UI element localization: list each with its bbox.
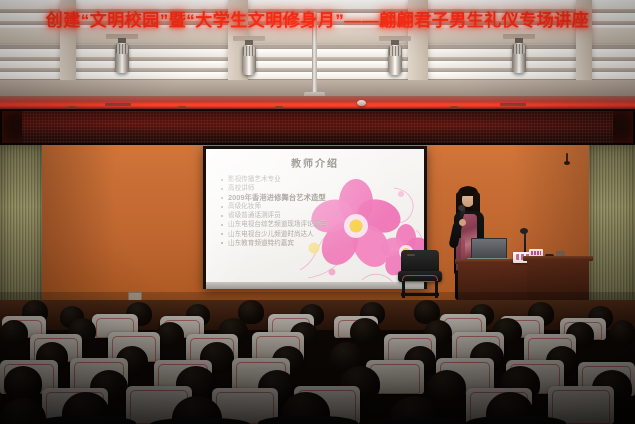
audience-head — [610, 320, 635, 346]
audience-head — [156, 322, 184, 348]
microphone-head-icon — [458, 205, 465, 211]
slide-bullet: 山东电视台少儿频道时尚达人 — [220, 230, 405, 239]
lecture-hall-photo: 创建“文明校园”暨“大学生文明修身月”——翩翩君子男生礼仪专场讲座 — [0, 0, 635, 424]
audience-shoulders — [150, 418, 250, 424]
audience-head — [4, 366, 42, 401]
ceiling-spotlight — [512, 34, 526, 74]
audience-head — [0, 320, 28, 346]
ceiling-spotlight — [115, 34, 129, 74]
slide-bullet: 2009年香港进修舞台艺术造型 — [220, 193, 405, 202]
projection-screen: 教师介绍 影视传播艺术专业 高校讲师 2009年香港进修舞台艺术造型 高级化妆师… — [206, 149, 424, 282]
ceiling-vent — [500, 103, 526, 106]
desk-microphone-head — [520, 228, 528, 234]
slide-bullet: 高校讲师 — [220, 184, 405, 193]
projection-screen-bottom-bar — [206, 282, 424, 289]
slide-bullet: 高级化妆师 — [220, 202, 405, 211]
smoke-detector — [357, 100, 366, 106]
ceiling-vent — [105, 103, 131, 106]
seated-audience — [0, 292, 635, 424]
podium-nameplate-text — [531, 251, 541, 255]
ceiling-spotlight — [388, 36, 402, 76]
led-banner-frame — [0, 109, 635, 145]
wall-hook — [566, 153, 568, 162]
led-banner-text: 创建“文明校园”暨“大学生文明修身月”——翩翩君子男生礼仪专场讲座 — [0, 0, 635, 36]
black-chair — [398, 250, 442, 298]
audience-head — [350, 318, 380, 345]
slide-title: 教师介绍 — [206, 155, 424, 170]
audience-shoulders — [466, 416, 566, 424]
audience-shoulders — [258, 416, 358, 424]
slide-bullet: 省级普通话测评员 — [220, 211, 405, 220]
audience-shoulders — [36, 416, 136, 424]
ceiling-spotlight — [242, 36, 256, 76]
audience-head — [428, 370, 466, 405]
slide-bullet: 山东教育频道特约嘉宾 — [220, 239, 405, 248]
soffit-red-glow — [0, 101, 635, 109]
audience-shoulders — [366, 418, 466, 424]
slide-bullet: 山东电视台综艺频道现场评论嘉宾 — [220, 220, 405, 229]
slide-bullet-list: 影视传播艺术专业 高校讲师 2009年香港进修舞台艺术造型 高级化妆师 省级普通… — [220, 175, 405, 248]
slide-bullet: 影视传播艺术专业 — [220, 175, 405, 184]
